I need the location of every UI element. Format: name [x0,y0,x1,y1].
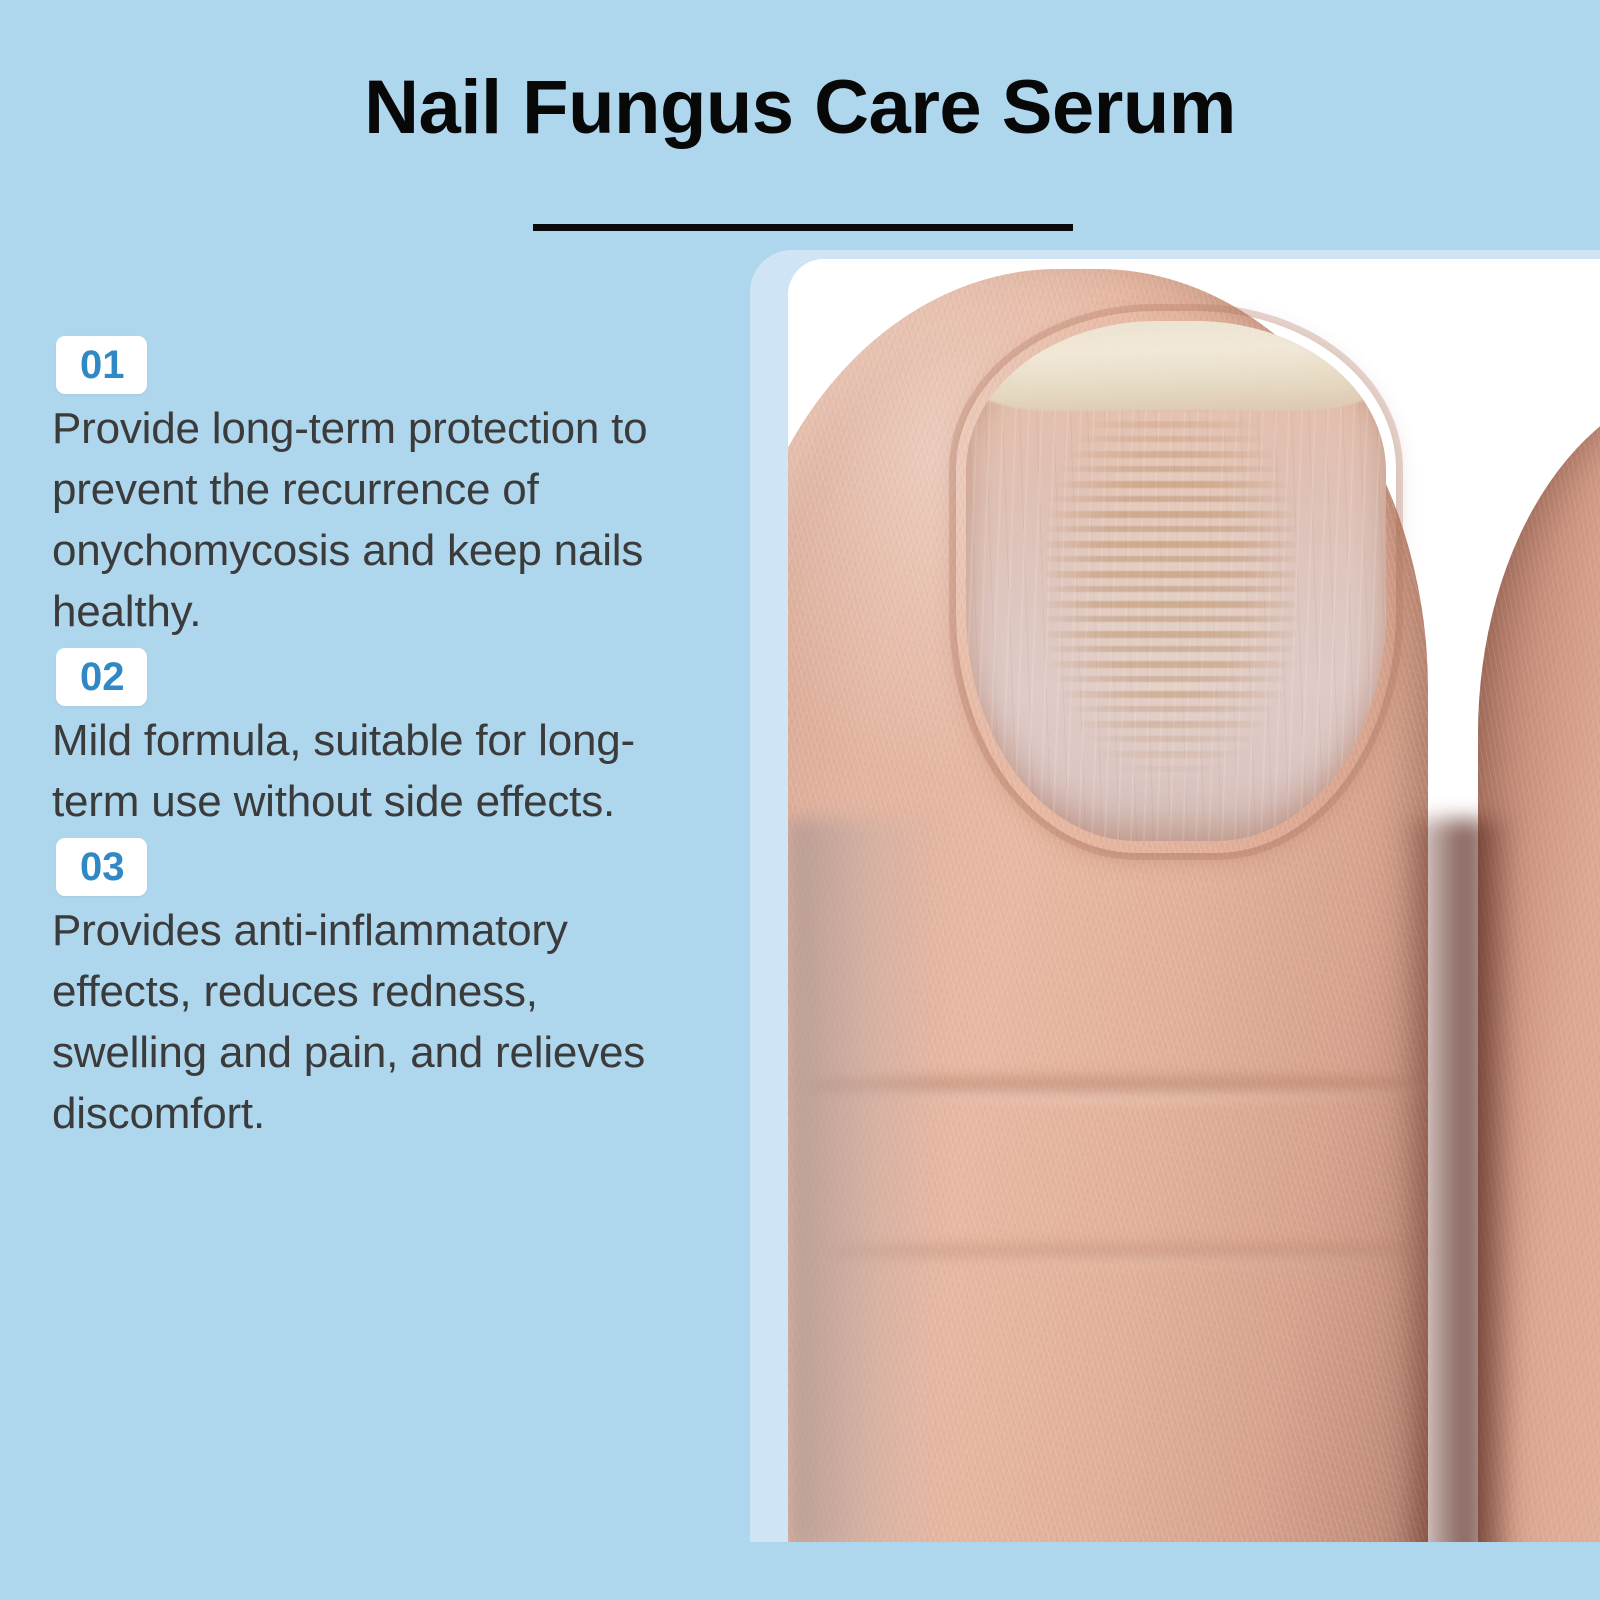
nail-cuticle-band [966,321,1386,411]
feature-item-01: 01 Provide long-term protection to preve… [52,336,692,642]
feature-number-badge-03: 03 [56,838,147,896]
fungal-nail-photo [788,259,1600,1542]
photo-edge-shadow [788,819,938,1542]
feature-number-badge-01: 01 [56,336,147,394]
feature-text-02: Mild formula, suitable for long-term use… [52,710,692,832]
feature-text-01: Provide long-term protection to prevent … [52,398,692,642]
product-photo-card [750,250,1600,1542]
feature-text-03: Provides anti-inflammatory effects, redu… [52,900,692,1144]
feature-list: 01 Provide long-term protection to preve… [52,336,692,1150]
feature-item-03: 03 Provides anti-inflammatory effects, r… [52,838,692,1144]
photo-frame [788,259,1600,1542]
fungal-ridges [1046,391,1296,791]
feature-number-badge-02: 02 [56,648,147,706]
feature-item-02: 02 Mild formula, suitable for long-term … [52,648,692,832]
title-divider [533,224,1073,231]
nail-plate [966,321,1386,841]
finger-crevice-shadow [1400,819,1510,1542]
page-title: Nail Fungus Care Serum [0,70,1600,146]
